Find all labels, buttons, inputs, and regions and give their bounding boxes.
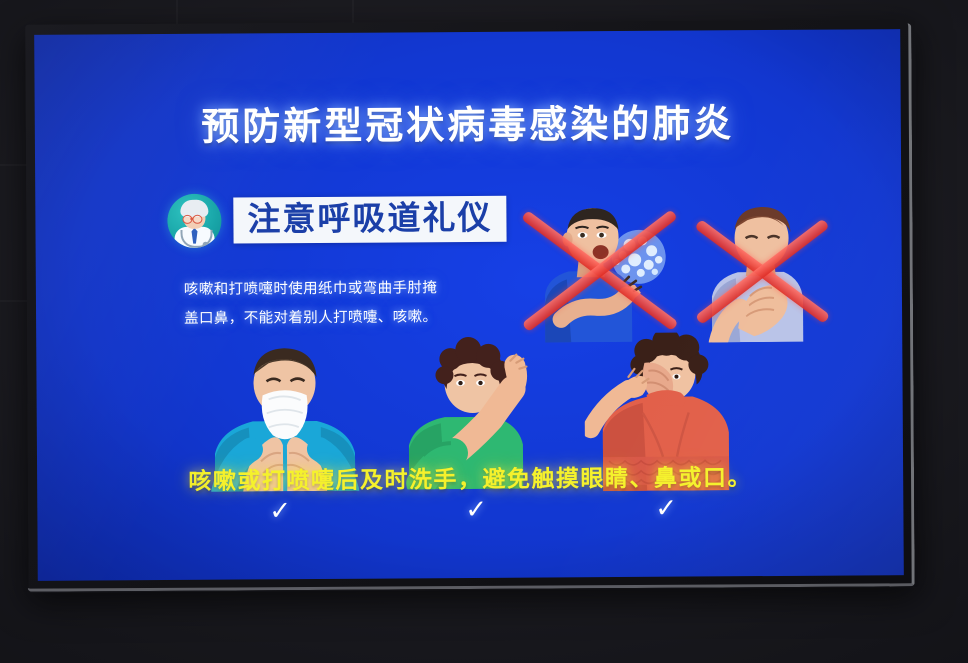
glasses-bridge-icon [190, 218, 193, 220]
footer-caption: 咳嗽或打喷嚏后及时洗手，避免触摸眼睛、鼻或口。 [37, 457, 903, 497]
check-mark-icon: ✓ [465, 496, 487, 522]
stethoscope-bulb-icon [203, 242, 209, 248]
sneeze-open-air-graphic [530, 199, 670, 343]
section-heading-row: 注意呼吸道礼仪 [167, 192, 506, 248]
illustration-sneeze-open-air [530, 199, 670, 343]
tv-screen: 预防新型冠状病毒感染的肺炎 注意呼吸道礼仪 [34, 29, 904, 581]
cover-with-hands-graphic [703, 200, 822, 343]
wall-seam [0, 300, 30, 302]
check-mark-icon: ✓ [655, 495, 677, 521]
section-heading-label: 注意呼吸道礼仪 [247, 201, 492, 237]
glasses-icon [192, 215, 202, 224]
body-paragraph: 咳嗽和打喷嚏时使用纸巾或弯曲手肘掩 盖口鼻，不能对着别人打喷嚏、咳嗽。 [184, 274, 464, 334]
illustration-cover-with-hands [703, 200, 822, 343]
health-poster-slide: 预防新型冠状病毒感染的肺炎 注意呼吸道礼仪 [34, 29, 904, 581]
body-line-2: 盖口鼻，不能对着别人打喷嚏、咳嗽。 [184, 303, 464, 334]
page-title: 预防新型冠状病毒感染的肺炎 [35, 91, 901, 152]
body-line-1: 咳嗽和打喷嚏时使用纸巾或弯曲手肘掩 [184, 274, 464, 305]
doctor-icon [167, 194, 221, 248]
photograph-of-display: 预防新型冠状病毒感染的肺炎 注意呼吸道礼仪 [0, 0, 968, 663]
check-mark-icon: ✓ [269, 497, 291, 523]
heading-banner: 注意呼吸道礼仪 [233, 195, 506, 243]
